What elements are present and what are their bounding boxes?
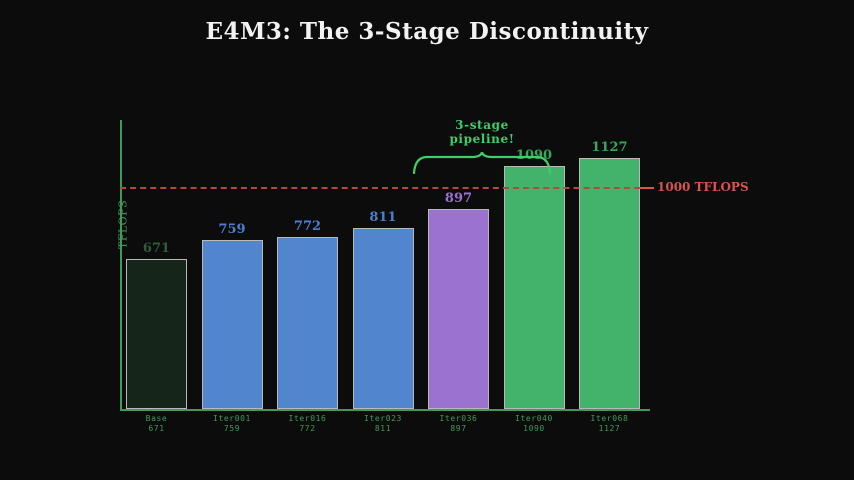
bar-value-iter023: 811 [353, 210, 414, 225]
x-tick-value: 759 [192, 424, 273, 434]
bar-base [126, 259, 187, 409]
x-tick-value: 811 [343, 424, 424, 434]
x-tick-iter023: Iter023811 [343, 414, 424, 434]
bar-iter023 [353, 228, 414, 409]
bar-iter068 [579, 158, 640, 409]
brace-icon [412, 152, 552, 174]
x-tick-name: Iter016 [267, 414, 348, 424]
bar-iter040 [504, 166, 565, 409]
x-tick-iter068: Iter0681127 [569, 414, 650, 434]
x-tick-name: Iter001 [192, 414, 273, 424]
x-tick-name: Iter036 [418, 414, 499, 424]
x-tick-value: 671 [116, 424, 197, 434]
x-tick-base: Base671 [116, 414, 197, 434]
threshold-legend-dash [640, 187, 654, 189]
pipeline-annotation-line1: 3-stage [402, 118, 562, 132]
x-tick-iter040: Iter0401090 [494, 414, 575, 434]
x-tick-name: Base [116, 414, 197, 424]
bar-iter016 [277, 237, 338, 409]
x-tick-value: 1127 [569, 424, 650, 434]
pipeline-annotation: 3-stage pipeline! [402, 118, 562, 146]
chart-canvas: E4M3: The 3-Stage Discontinuity TFLOPS 6… [0, 0, 854, 480]
x-tick-name: Iter040 [494, 414, 575, 424]
bar-iter036 [428, 209, 489, 409]
x-tick-value: 1090 [494, 424, 575, 434]
x-tick-name: Iter023 [343, 414, 424, 424]
x-tick-iter001: Iter001759 [192, 414, 273, 434]
bar-iter001 [202, 240, 263, 409]
threshold-line [120, 187, 650, 189]
x-tick-value: 772 [267, 424, 348, 434]
plot-area: 67175977281189710901127 [120, 120, 650, 410]
x-tick-name: Iter068 [569, 414, 650, 424]
threshold-label: 1000 TFLOPS [657, 180, 749, 194]
pipeline-brace [412, 152, 552, 174]
pipeline-annotation-line2: pipeline! [402, 132, 562, 146]
page-title: E4M3: The 3-Stage Discontinuity [0, 18, 854, 45]
bar-value-iter068: 1127 [579, 140, 640, 155]
bar-value-iter016: 772 [277, 219, 338, 234]
bar-value-base: 671 [126, 241, 187, 256]
bar-value-iter036: 897 [428, 191, 489, 206]
bar-value-iter001: 759 [202, 222, 263, 237]
x-tick-value: 897 [418, 424, 499, 434]
x-axis-spine [120, 409, 650, 411]
x-tick-iter036: Iter036897 [418, 414, 499, 434]
x-tick-iter016: Iter016772 [267, 414, 348, 434]
y-axis-spine [120, 120, 122, 410]
